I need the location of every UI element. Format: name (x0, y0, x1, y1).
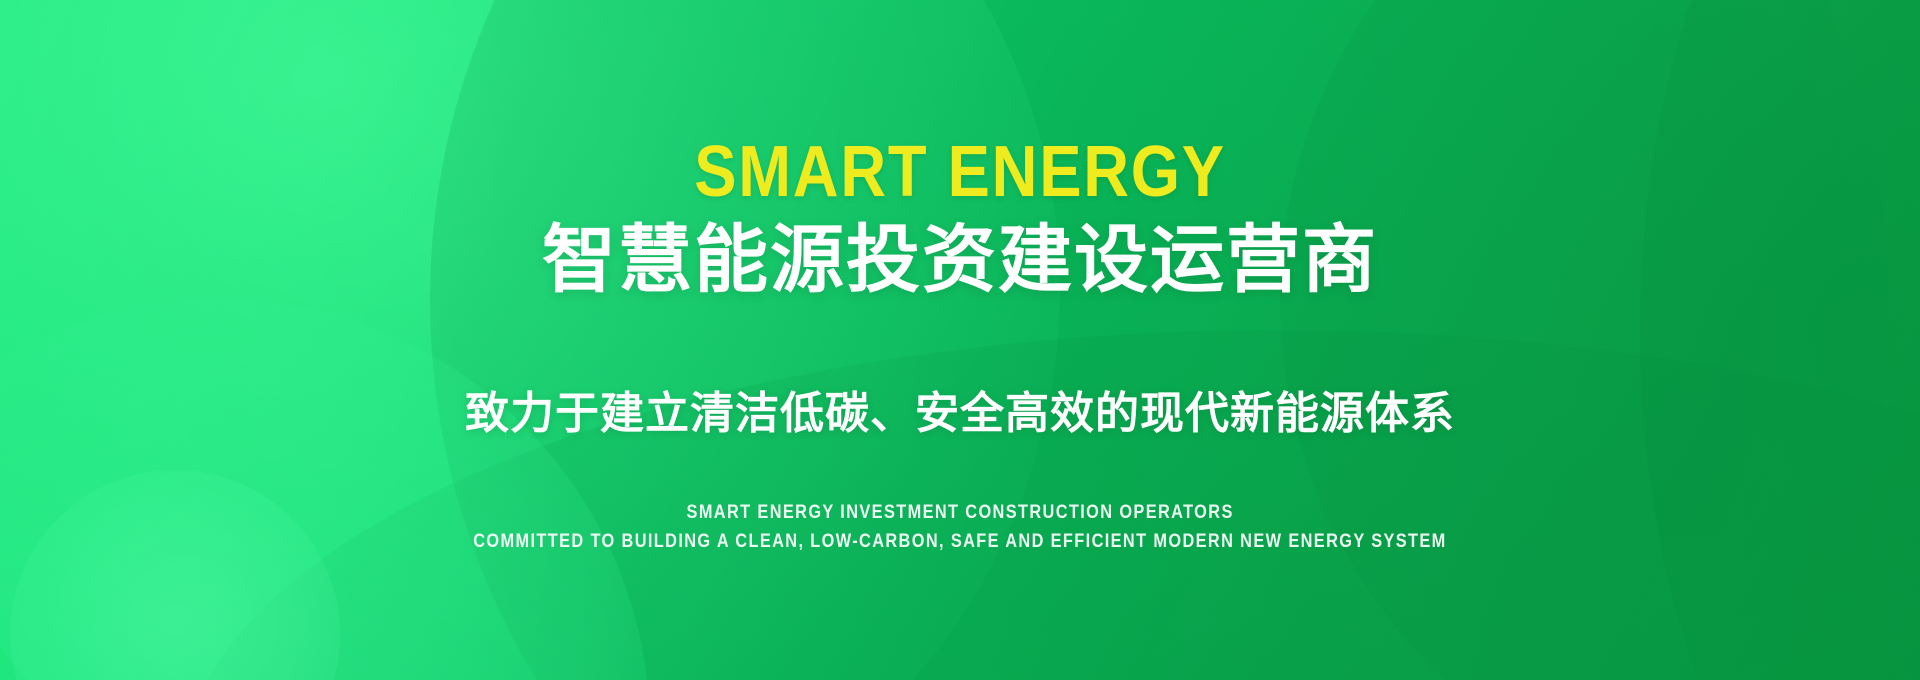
banner-eyebrow-title: SMART ENERGY (694, 136, 1226, 208)
banner-english-caption-group: SMART ENERGY INVESTMENT CONSTRUCTION OPE… (394, 501, 1526, 555)
smart-energy-banner: SMART ENERGY 智慧能源投资建设运营商 致力于建立清洁低碳、安全高效的… (0, 0, 1920, 680)
banner-english-caption-line-1: SMART ENERGY INVESTMENT CONSTRUCTION OPE… (686, 501, 1233, 525)
banner-headline-chinese: 智慧能源投资建设运营商 (542, 220, 1378, 300)
banner-english-caption-line-2: COMMITTED TO BUILDING A CLEAN, LOW-CARBO… (473, 530, 1446, 554)
banner-content: SMART ENERGY 智慧能源投资建设运营商 致力于建立清洁低碳、安全高效的… (0, 0, 1920, 680)
banner-subheadline-chinese: 致力于建立清洁低碳、安全高效的现代新能源体系 (465, 389, 1455, 440)
